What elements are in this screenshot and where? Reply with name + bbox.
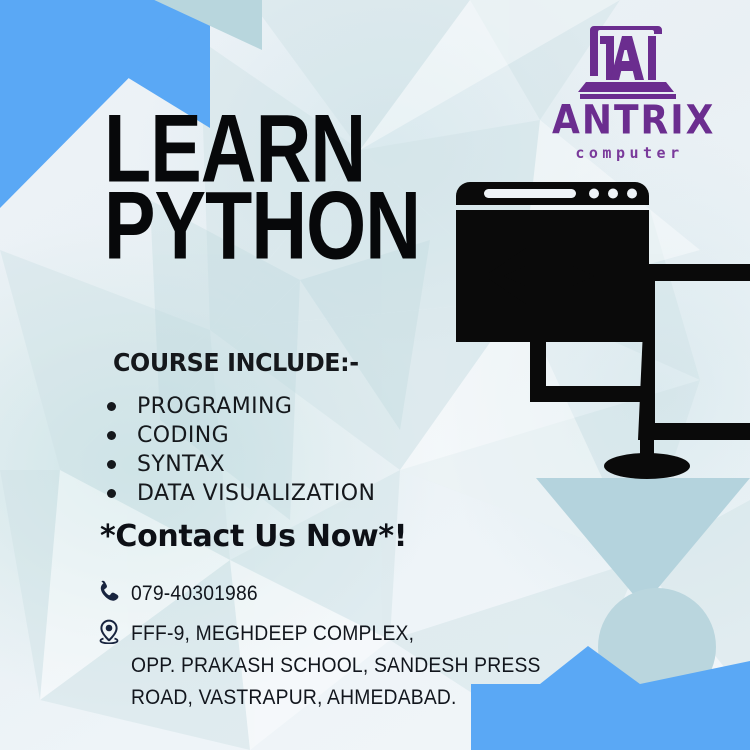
- list-item: SYNTAX: [107, 450, 375, 479]
- browser-window-icon: [456, 182, 649, 402]
- course-item-label: DATA VISUALIZATION: [137, 481, 375, 506]
- course-item-label: SYNTAX: [137, 452, 225, 477]
- contact-cta: *Contact Us Now*!: [100, 519, 407, 554]
- poster-canvas: ANTRIX computer LEARN PYTHON: [0, 0, 750, 750]
- course-item-label: CODING: [137, 423, 229, 448]
- phone-icon: [96, 578, 122, 604]
- bullet-icon: [107, 460, 116, 469]
- list-item: CODING: [107, 421, 375, 450]
- list-item: PROGRAMING: [107, 392, 375, 421]
- course-item-label: PROGRAMING: [137, 394, 292, 419]
- laptop-icon: [578, 22, 678, 100]
- address-line-2: OPP. PRAKASH SCHOOL, SANDESH PRESS: [131, 650, 541, 682]
- bullet-icon: [107, 431, 116, 440]
- address-text: FFF-9, MEGHDEEP COMPLEX, OPP. PRAKASH SC…: [131, 618, 541, 714]
- location-pin-icon: [96, 618, 122, 644]
- code-illustration: [450, 170, 750, 490]
- bullet-icon: [107, 402, 116, 411]
- bullet-icon: [107, 489, 116, 498]
- brand-name: ANTRIX: [552, 101, 704, 141]
- page-title: LEARN PYTHON: [104, 104, 444, 258]
- brand-logo: ANTRIX computer: [552, 22, 704, 162]
- phone-number: 079-40301986: [131, 578, 258, 610]
- list-item: DATA VISUALIZATION: [107, 479, 375, 508]
- brand-tagline: computer: [555, 144, 704, 162]
- course-include-heading: COURSE INCLUDE:-: [113, 348, 359, 377]
- contact-phone-row[interactable]: 079-40301986: [96, 578, 269, 610]
- address-line-3: ROAD, VASTRAPUR, AHMEDABAD.: [131, 682, 541, 714]
- course-list: PROGRAMING CODING SYNTAX DATA VISUALIZAT…: [107, 392, 375, 508]
- address-line-1: FFF-9, MEGHDEEP COMPLEX,: [131, 618, 541, 650]
- contact-address-row[interactable]: FFF-9, MEGHDEEP COMPLEX, OPP. PRAKASH SC…: [96, 618, 576, 714]
- headline-line-2: PYTHON: [104, 181, 420, 271]
